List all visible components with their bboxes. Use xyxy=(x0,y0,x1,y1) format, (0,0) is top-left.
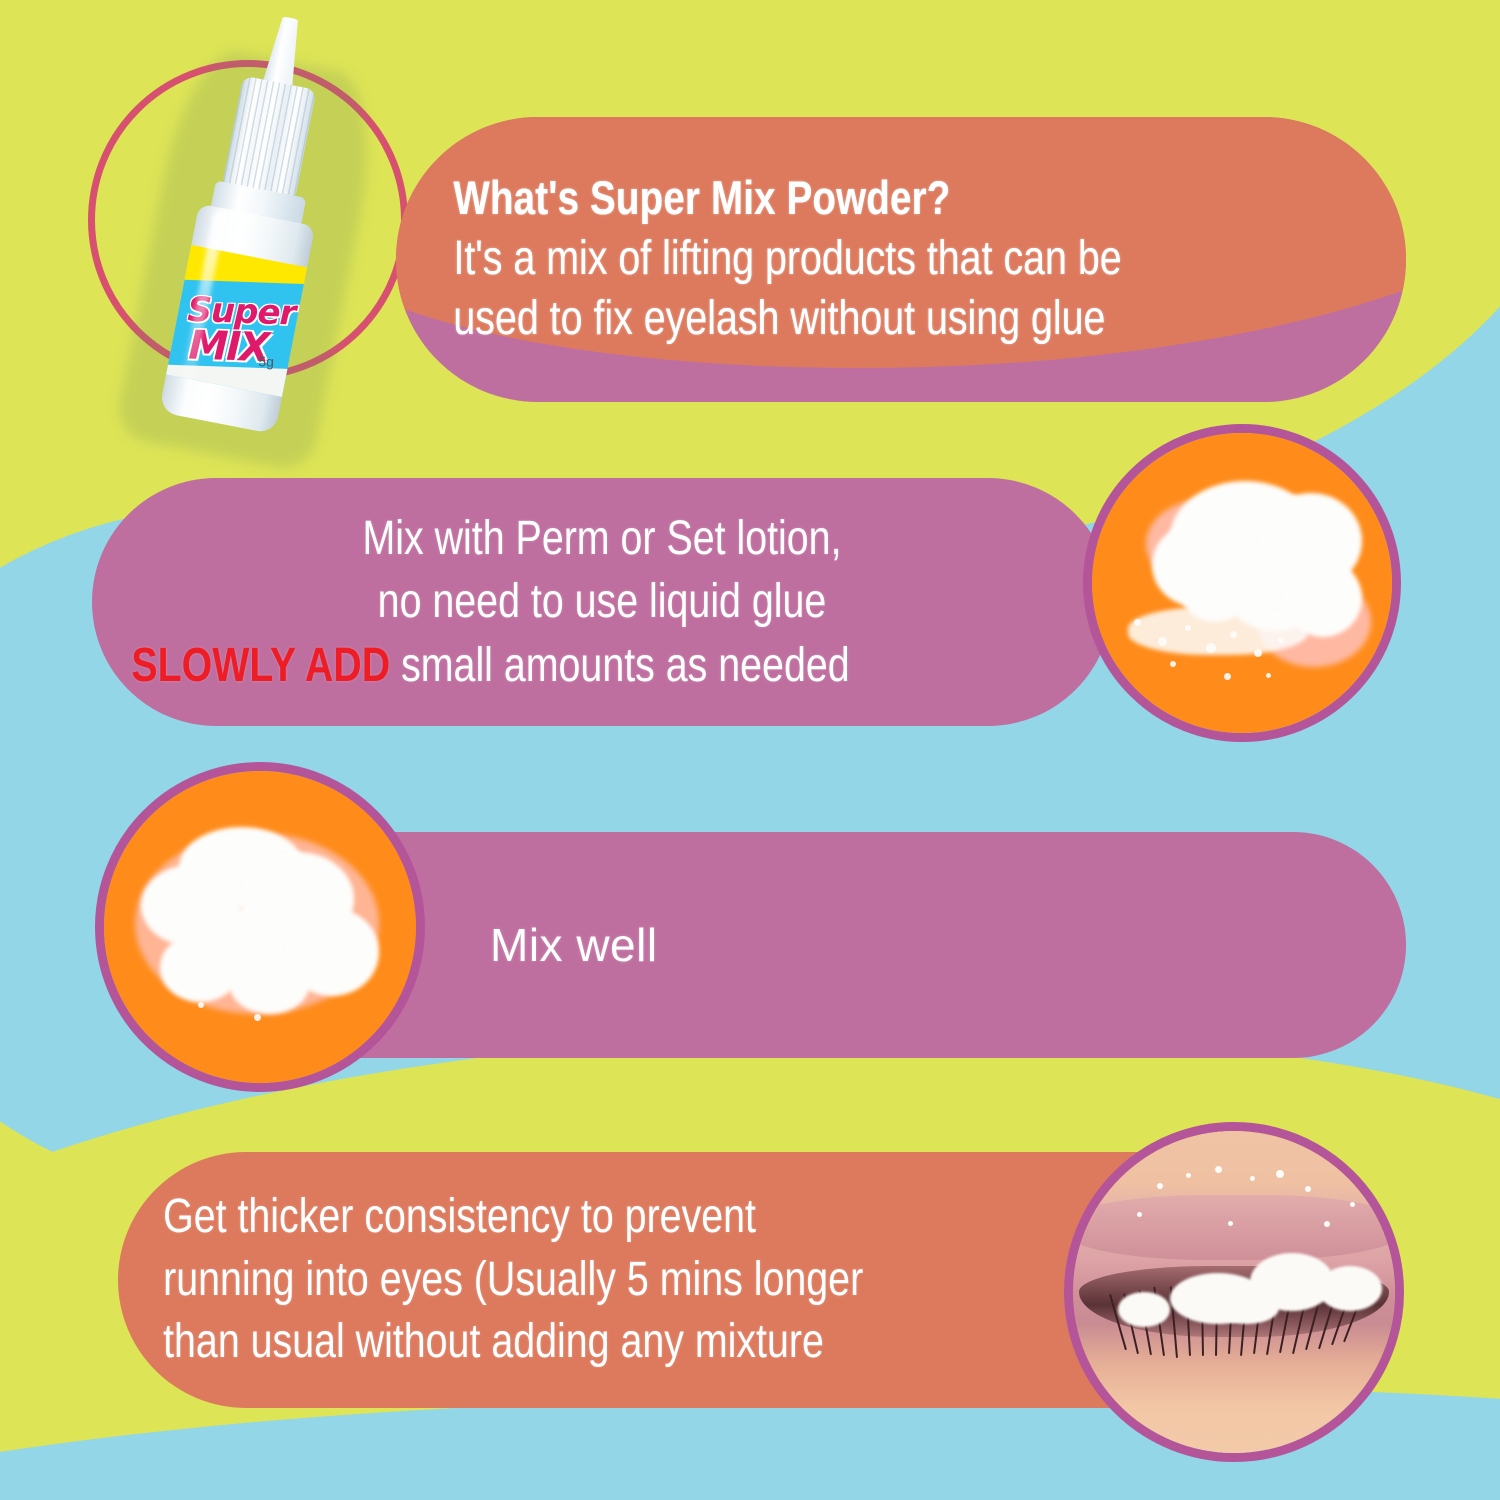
step-1-line-1-front: It's a mix of lifting products that can … xyxy=(396,229,1224,289)
step-4-line-3: than usual without adding any mixture xyxy=(118,1311,1082,1373)
step-card-mix-with-lotion: Mix with Perm or Set lotion, no need to … xyxy=(92,478,1112,726)
powder-speck xyxy=(1266,673,1271,678)
image-eyelash-closeup xyxy=(1064,1122,1404,1462)
infographic-poster: What's Super Mix Powder? It's a mix of l… xyxy=(0,0,1500,1500)
cream-patch-5 xyxy=(1215,1292,1279,1324)
step-2-text-group: Mix with Perm or Set lotion, no need to … xyxy=(92,507,1112,697)
foam-lobe-6 xyxy=(160,933,241,1002)
bottle-graphic: Super MIX 5g xyxy=(134,3,410,453)
powder-dot xyxy=(1137,1212,1142,1217)
step-1-text-group-front: What's Super Mix Powder? It's a mix of l… xyxy=(396,170,1406,348)
image-foam-powder-left xyxy=(95,762,425,1092)
powder-dot xyxy=(1305,1186,1311,1192)
step-1-line-2-front: used to fix eyelash without using glue xyxy=(396,289,1224,349)
net-weight-label: 5g xyxy=(258,353,274,370)
step-4-line-1: Get thicker consistency to prevent xyxy=(118,1186,1082,1248)
step-2-line-2: no need to use liquid glue xyxy=(184,570,1020,633)
powder-dot xyxy=(1276,1170,1284,1178)
image-product-bottle: Super MIX 5g xyxy=(120,18,450,448)
cream-patch-3 xyxy=(1118,1292,1170,1327)
powder-speck xyxy=(198,1002,204,1008)
step-2-line-3: SLOWLY ADD small amounts as needed xyxy=(92,634,928,697)
powder-speck xyxy=(1224,673,1231,680)
powder-dot xyxy=(1350,1202,1355,1207)
bottle-cap xyxy=(222,76,316,200)
powder-drift xyxy=(1128,607,1308,655)
step-2-emphasis-slowly-add: SLOWLY ADD xyxy=(131,639,390,692)
step-1-heading-front: What's Super Mix Powder? xyxy=(396,170,1224,225)
powder-dot xyxy=(1157,1183,1163,1189)
powder-dot xyxy=(1186,1173,1191,1178)
step-card-what-is-super-mix-text: What's Super Mix Powder? It's a mix of l… xyxy=(396,117,1406,402)
powder-speck xyxy=(1170,661,1176,667)
step-4-line-2: running into eyes (Usually 5 mins longer xyxy=(118,1249,1082,1311)
image-foam-powder-right xyxy=(1083,424,1401,742)
foam-lobe-7 xyxy=(229,952,310,1014)
step-2-line-3-rest: small amounts as needed xyxy=(390,639,849,692)
step-2-line-1: Mix with Perm or Set lotion, xyxy=(184,507,1020,570)
powder-dot xyxy=(1228,1221,1233,1226)
bottle-cap-ribs xyxy=(222,76,316,200)
cream-patch-4 xyxy=(1318,1266,1382,1311)
